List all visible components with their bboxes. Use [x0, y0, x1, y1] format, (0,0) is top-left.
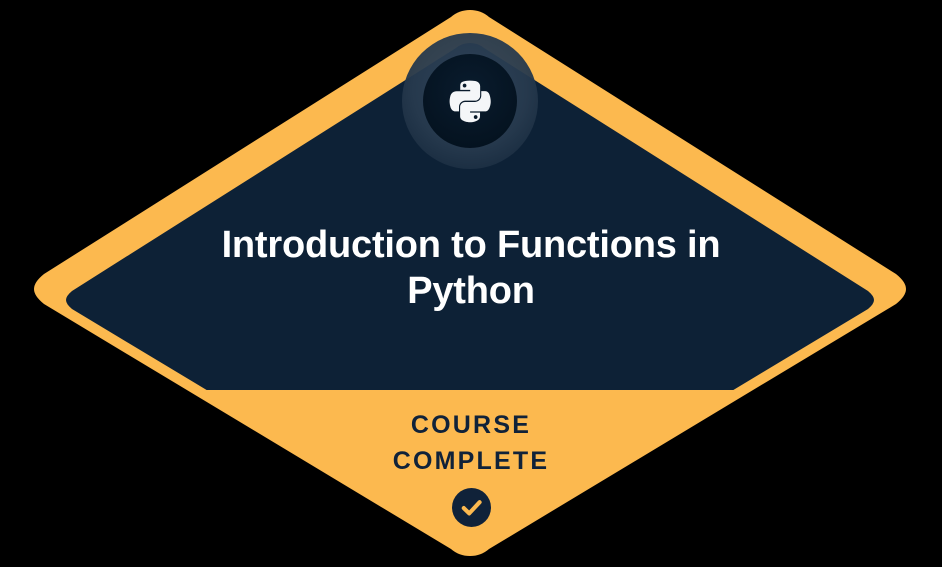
python-logo-rings	[402, 33, 538, 169]
course-completion-badge[interactable]	[0, 0, 942, 567]
badge-canvas: Introduction to Functions in Python COUR…	[0, 0, 942, 567]
